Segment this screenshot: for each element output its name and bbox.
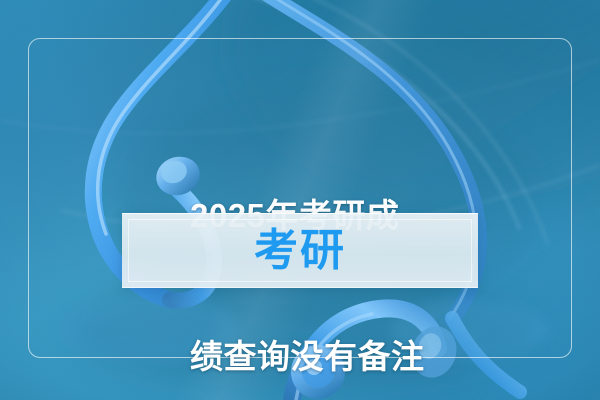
keyword-band-label: 考研 xyxy=(254,229,346,273)
poster-canvas: 2025年考研成 绩查询没有备注 考研 xyxy=(0,0,600,400)
page-title-line-2: 绩查询没有备注 xyxy=(190,333,440,380)
keyword-band: 考研 xyxy=(122,213,478,288)
